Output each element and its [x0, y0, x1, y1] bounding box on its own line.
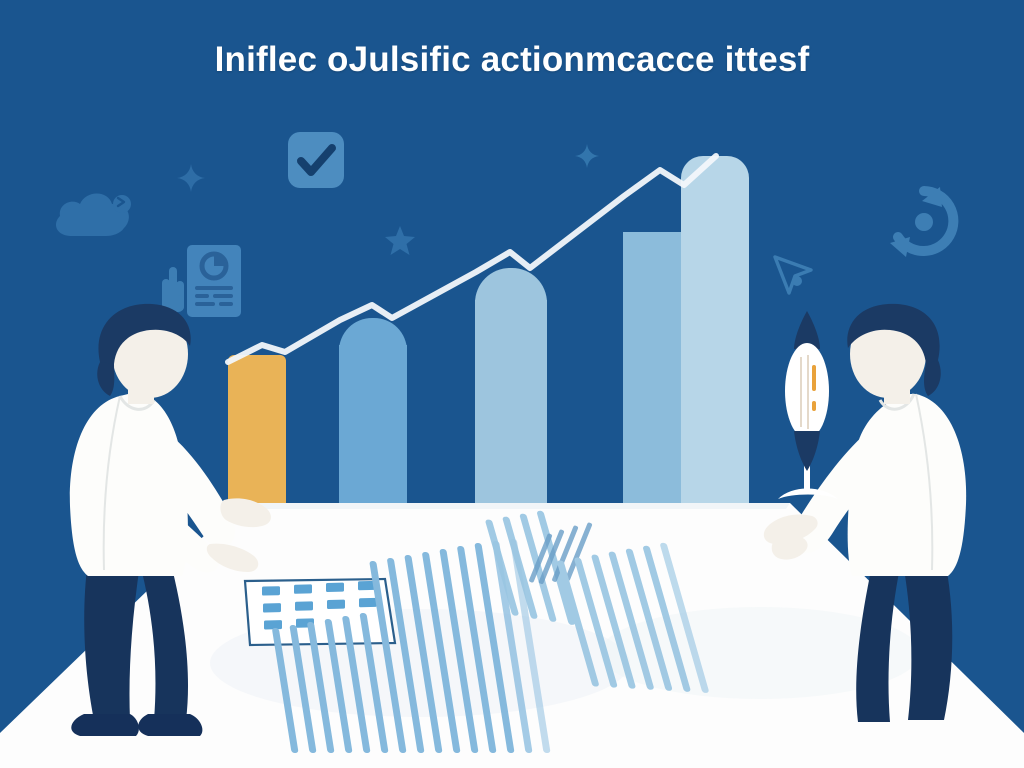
bar-4	[623, 232, 681, 516]
page-title: Iniflec oJulsific actionmcacce ittesf	[0, 40, 1024, 80]
left-presenter	[58, 300, 298, 750]
illustration-canvas: Iniflec oJulsific actionmcacce ittesf	[0, 0, 1024, 768]
rocket-model	[768, 305, 848, 515]
